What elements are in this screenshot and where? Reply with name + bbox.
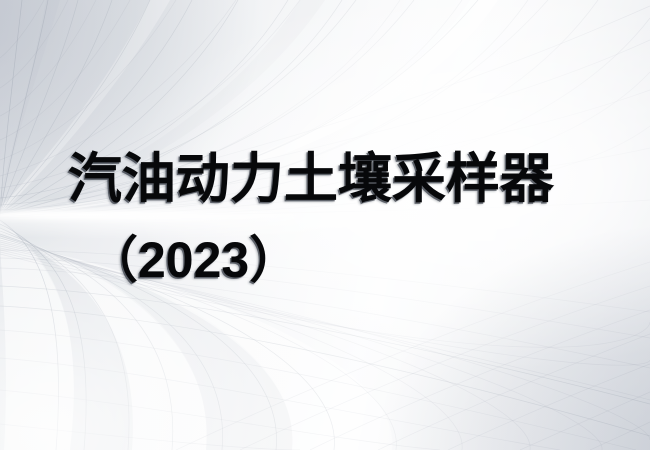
background-base-gradient (0, 0, 650, 450)
mesh-crosshatch (176, 262, 650, 450)
background-mesh-pattern (0, 0, 650, 450)
background-bloom-highlight (0, 0, 650, 450)
background-horizon-streak (0, 0, 650, 450)
mesh-right-diagonals (0, 6, 650, 218)
page-title-year: （2023） (88, 230, 299, 290)
mesh-lower-fan (0, 220, 650, 450)
background-white-veil (0, 0, 650, 450)
page-title: 汽油动力土壤采样器 (68, 148, 554, 210)
background-corner-shading (0, 0, 650, 450)
title-slide: 汽油动力土壤采样器 （2023） (0, 0, 650, 450)
title-block: 汽油动力土壤采样器 （2023） (0, 0, 650, 450)
mesh-upper-fan (0, 0, 650, 217)
